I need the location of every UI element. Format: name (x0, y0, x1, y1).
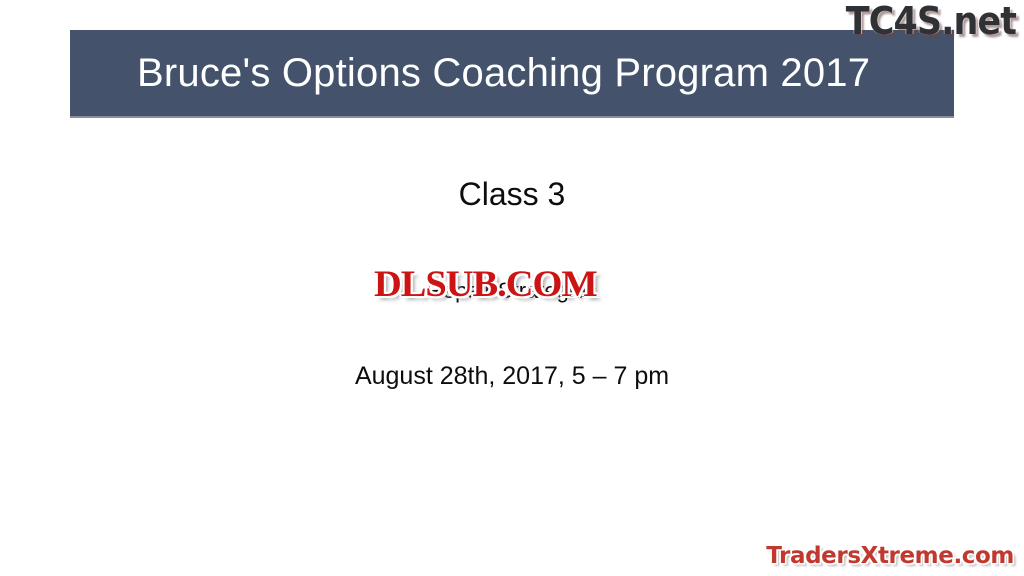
tradersxtreme-watermark: TradersXtreme.com (766, 545, 1014, 568)
slide-title-banner: Bruce's Options Coaching Program 2017 (70, 30, 954, 116)
class-number-label: Class 3 (0, 178, 1024, 210)
presentation-slide: Bruce's Options Coaching Program 2017 Cl… (0, 0, 1024, 576)
session-date-label: August 28th, 2017, 5 – 7 pm (0, 364, 1024, 389)
dlsub-watermark: DLSUB.COM (374, 266, 597, 303)
tc4s-watermark: TC4S.net (846, 2, 1016, 40)
page-title: Bruce's Options Coaching Program 2017 (70, 53, 870, 93)
